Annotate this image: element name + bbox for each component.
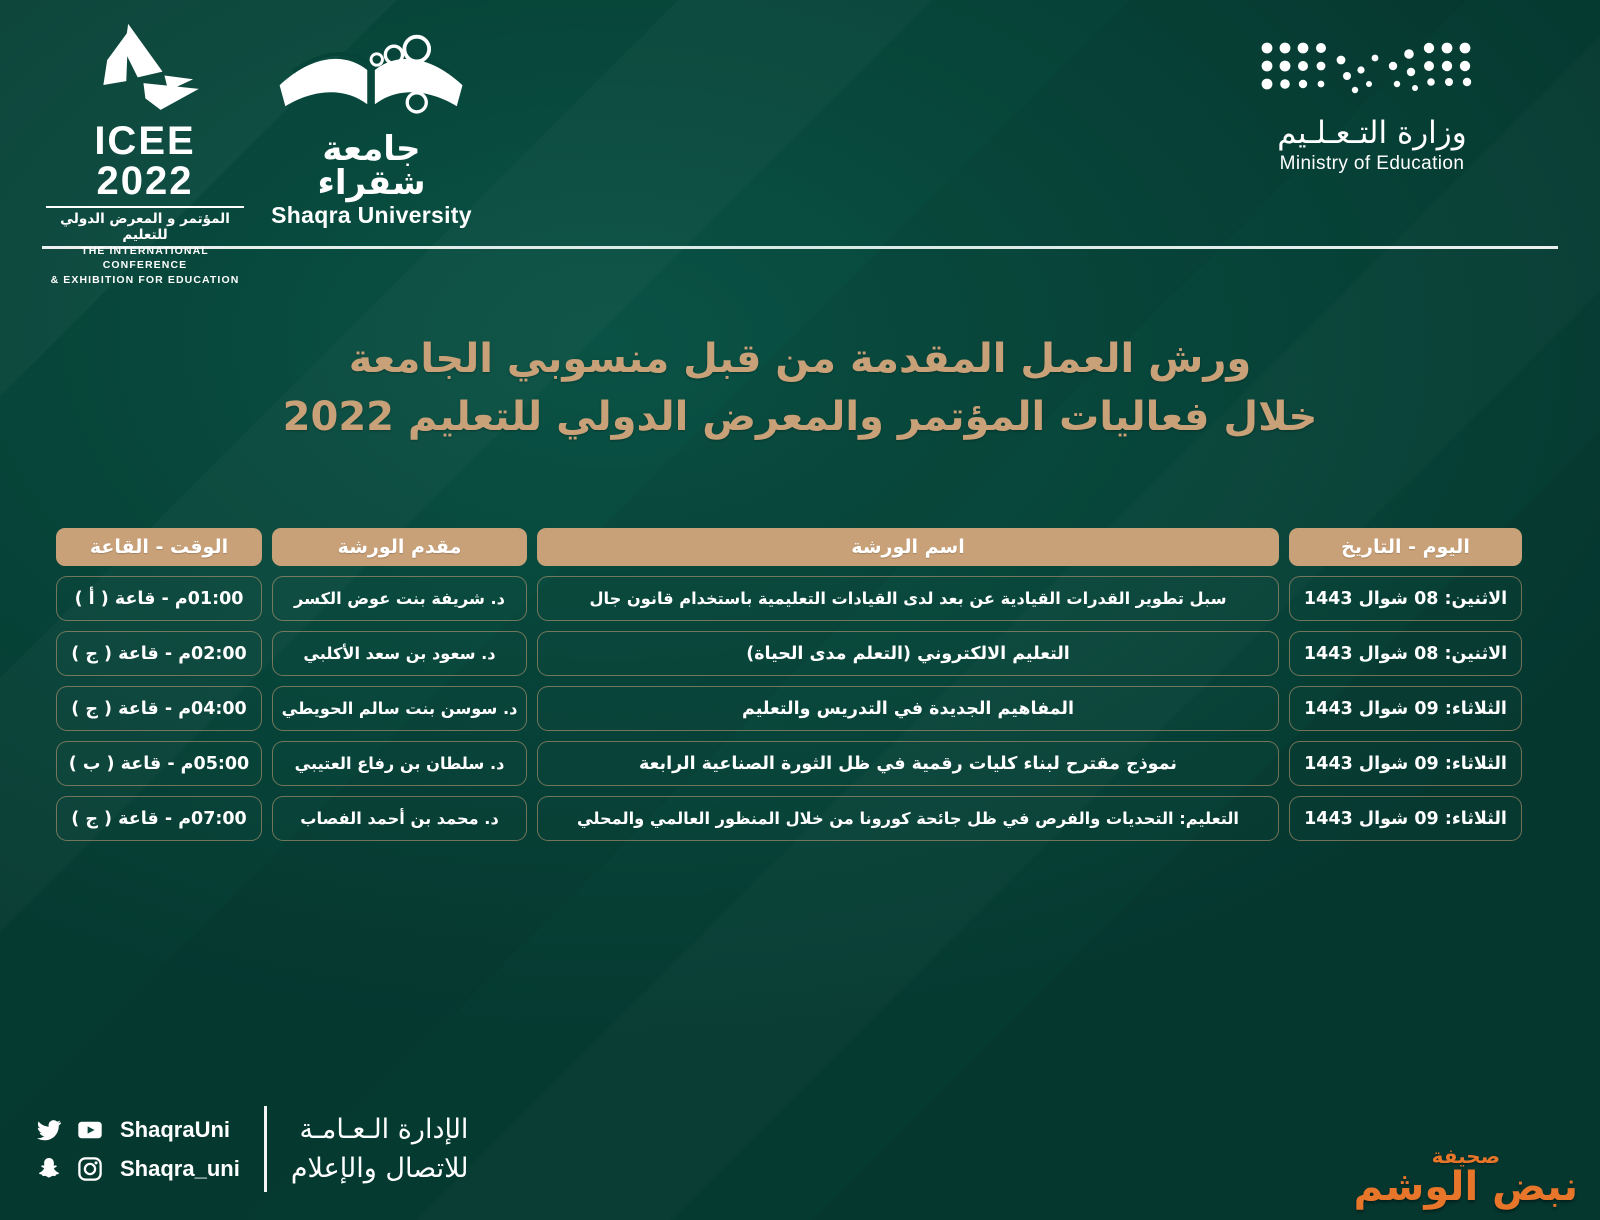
poster-canvas: ICEE 2022 المؤتمر و المعرض الدولي للتعلي… <box>0 0 1600 1220</box>
poster-title: ورش العمل المقدمة من قبل منسوبي الجامعة … <box>0 330 1600 446</box>
snapchat-icon[interactable] <box>34 1156 64 1182</box>
cell-workshop: التعليم الالكتروني (التعلم مدى الحياة) <box>537 631 1279 676</box>
twitter-icon[interactable] <box>34 1117 64 1143</box>
snapchat-instagram-handle: Shaqra_uni <box>120 1156 240 1182</box>
cell-date: الثلاثاء: 09 شوال 1443 <box>1289 741 1522 786</box>
cell-time-hall: 04:00م - قاعة ( ج ) <box>56 686 262 731</box>
cell-time-hall: 01:00م - قاعة ( أ ) <box>56 576 262 621</box>
header-time-hall: الوقت - القاعة <box>56 528 262 566</box>
social-row-snapchat-instagram: Shaqra_uni <box>34 1156 240 1182</box>
header-divider <box>42 246 1558 249</box>
youtube-icon[interactable] <box>75 1117 105 1143</box>
watermark-main-text: نبض الوشم <box>1354 1168 1578 1206</box>
table-row: الاثنين: 08 شوال 1443 التعليم الالكتروني… <box>56 631 1522 676</box>
shaqra-english-name: Shaqra University <box>264 202 479 229</box>
workshops-table: اليوم - التاريخ اسم الورشة مقدم الورشة ا… <box>56 528 1522 851</box>
footer-divider <box>264 1106 267 1192</box>
header-workshop: اسم الورشة <box>537 528 1279 566</box>
ministry-of-education-logo: وزارة التـعـلـيم Ministry of Education <box>1222 40 1522 175</box>
title-line-2: خلال فعاليات المؤتمر والمعرض الدولي للتع… <box>0 388 1600 446</box>
poster-header: ICEE 2022 المؤتمر و المعرض الدولي للتعلي… <box>0 0 1600 250</box>
icee-title: ICEE 2022 <box>40 121 250 201</box>
social-handles-group: ShaqraUni Shaqra_uni <box>34 1117 240 1182</box>
cell-workshop: نموذج مقترح لبناء كليات رقمية في ظل الثو… <box>537 741 1279 786</box>
instagram-icon[interactable] <box>75 1156 105 1182</box>
table-row: الثلاثاء: 09 شوال 1443 التعليم: التحديات… <box>56 796 1522 841</box>
poster-footer: ShaqraUni Shaqra_uni الإدارة الـعـامـة ل… <box>34 1106 468 1192</box>
moe-dot-matrix-icon <box>1257 40 1487 102</box>
shaqra-arabic-name: جامعة شقراء <box>264 132 479 200</box>
cell-date: الاثنين: 08 شوال 1443 <box>1289 631 1522 676</box>
twitter-youtube-handle: ShaqraUni <box>120 1117 230 1143</box>
header-presenter: مقدم الورشة <box>272 528 527 566</box>
icee-english-line1: THE INTERNATIONAL CONFERENCE <box>40 245 250 272</box>
watermark-top-text: صحيفة <box>1354 1146 1578 1166</box>
department-name: الإدارة الـعـامـة للاتصال والإعلام <box>291 1110 469 1188</box>
newspaper-watermark: صحيفة نبض الوشم <box>1354 1146 1578 1206</box>
icee-english-line2: & EXHIBITION FOR EDUCATION <box>40 274 250 288</box>
table-row: الاثنين: 08 شوال 1443 سبل تطوير القدرات … <box>56 576 1522 621</box>
department-line-2: للاتصال والإعلام <box>291 1149 469 1188</box>
table-row: الثلاثاء: 09 شوال 1443 نموذج مقترح لبناء… <box>56 741 1522 786</box>
cell-workshop: المفاهيم الجديدة في التدريس والتعليم <box>537 686 1279 731</box>
cell-presenter: د. سلطان بن رفاع العتيبي <box>272 741 527 786</box>
cell-presenter: د. سعود بن سعد الأكلبي <box>272 631 527 676</box>
icee-arabic-subtitle: المؤتمر و المعرض الدولي للتعليم <box>40 212 250 243</box>
cell-date: الثلاثاء: 09 شوال 1443 <box>1289 796 1522 841</box>
shaqra-university-logo: جامعة شقراء Shaqra University <box>264 22 479 229</box>
header-date: اليوم - التاريخ <box>1289 528 1522 566</box>
department-line-1: الإدارة الـعـامـة <box>291 1110 469 1149</box>
cell-date: الثلاثاء: 09 شوال 1443 <box>1289 686 1522 731</box>
cell-workshop: التعليم: التحديات والفرص في ظل جائحة كور… <box>537 796 1279 841</box>
cell-presenter: د. شريفة بنت عوض الكسر <box>272 576 527 621</box>
table-row: الثلاثاء: 09 شوال 1443 المفاهيم الجديدة … <box>56 686 1522 731</box>
moe-english-name: Ministry of Education <box>1222 153 1522 175</box>
social-row-twitter-youtube: ShaqraUni <box>34 1117 240 1143</box>
cell-presenter: د. محمد بن أحمد الفصاب <box>272 796 527 841</box>
title-line-1: ورش العمل المقدمة من قبل منسوبي الجامعة <box>0 330 1600 388</box>
icee-bird-mark <box>69 22 222 127</box>
cell-presenter: د. سوسن بنت سالم الحويطي <box>272 686 527 731</box>
open-book-mark <box>272 30 472 130</box>
cell-time-hall: 02:00م - قاعة ( ج ) <box>56 631 262 676</box>
cell-time-hall: 05:00م - قاعة ( ب ) <box>56 741 262 786</box>
cell-workshop: سبل تطوير القدرات القيادية عن بعد لدى ال… <box>537 576 1279 621</box>
icee-divider <box>46 206 244 208</box>
moe-arabic-name: وزارة التـعـلـيم <box>1222 116 1522 150</box>
table-header-row: اليوم - التاريخ اسم الورشة مقدم الورشة ا… <box>56 528 1522 566</box>
cell-time-hall: 07:00م - قاعة ( ج ) <box>56 796 262 841</box>
cell-date: الاثنين: 08 شوال 1443 <box>1289 576 1522 621</box>
